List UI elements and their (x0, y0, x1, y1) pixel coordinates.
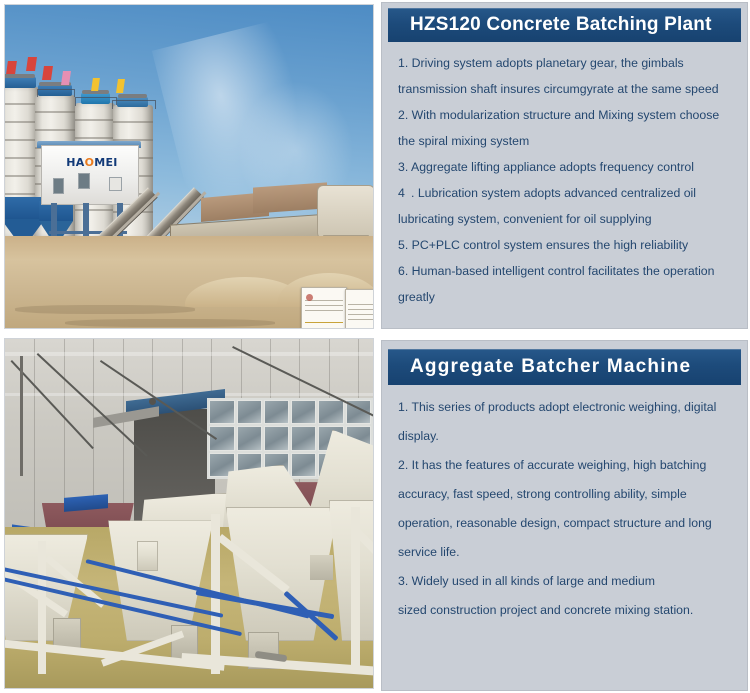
tower-window (78, 173, 90, 189)
feature-line: greatly (398, 284, 733, 310)
hzs120-feature-list: 1. Driving system adopts planetary gear,… (382, 42, 747, 316)
feature-line: the spiral mixing system (398, 128, 733, 154)
level-sensor-box (137, 541, 157, 571)
hzs120-spec-panel: HZS120 Concrete Batching Plant 1. Drivin… (381, 2, 748, 329)
aggregate-bin-top (253, 182, 327, 213)
certificate-document (301, 287, 347, 329)
silo-top-cap (4, 77, 36, 88)
feature-line: service life. (398, 538, 733, 567)
feature-line: 2. With modularization structure and Mix… (398, 102, 733, 128)
feature-line: accuracy, fast speed, strong controlling… (398, 480, 733, 509)
certificate-document (345, 289, 374, 329)
feature-line: 4 . Lubrication system adopts advanced c… (398, 180, 733, 206)
logo-text-pre: HA (66, 156, 84, 169)
haomei-logo: HAOMEI (61, 155, 123, 170)
feature-line: display. (398, 422, 733, 451)
silo-guard-rail (75, 97, 117, 106)
feature-line: 1. Driving system adopts planetary gear,… (398, 50, 733, 76)
feature-line: 3. Widely used in all kinds of large and… (398, 567, 733, 596)
tire-track (65, 319, 275, 327)
certificate-seal (306, 294, 313, 301)
silo-guard-rail (37, 89, 75, 97)
logo-text-accent: O (85, 156, 95, 169)
feature-line: 1. This series of products adopt electro… (398, 393, 733, 422)
feature-line: 2. It has the features of accurate weigh… (398, 451, 733, 480)
window-pane (209, 400, 234, 424)
window-pane (237, 426, 262, 450)
window-pane (264, 400, 289, 424)
aggregate-discharge-hopper (317, 185, 374, 239)
tower-window (109, 177, 122, 191)
feature-line: sized construction project and concrete … (398, 596, 733, 625)
silo-lid (118, 94, 147, 98)
silo-guard-rail (112, 100, 156, 109)
window-pane (237, 400, 262, 424)
ceiling-beam (20, 356, 23, 476)
discharge-gate (310, 555, 332, 579)
feature-line: transmission shaft insures circumgyrate … (398, 76, 733, 102)
control-tower-house (41, 145, 139, 205)
window-pane (291, 400, 316, 424)
product-spec-sheet: HAOMEI (0, 0, 750, 693)
logo-text-post: MEI (94, 156, 117, 169)
feature-line: 3. Aggregate lifting appliance adopts fr… (398, 154, 733, 180)
window-pane (318, 400, 343, 424)
silo-lid (4, 74, 35, 78)
feature-line: operation, reasonable design, compact st… (398, 509, 733, 538)
wall-lamp-icon (149, 398, 156, 405)
feature-line: 5. PC+PLC control system ensures the hig… (398, 232, 733, 258)
window-pane (291, 426, 316, 450)
aggregate-batcher-panel-title: Aggregate Batcher Machine (388, 349, 741, 385)
aggregate-batcher-photo (4, 338, 374, 689)
feature-line: lubricating system, convenient for oil s… (398, 206, 733, 232)
flag-red (6, 61, 17, 74)
aggregate-batcher-spec-panel: Aggregate Batcher Machine 1. This series… (381, 340, 748, 691)
concrete-batching-plant-photo: HAOMEI (4, 4, 374, 329)
tire-track (15, 305, 195, 314)
window-pane (291, 453, 316, 477)
window-pane (264, 426, 289, 450)
tower-window (53, 178, 64, 194)
feature-line: 6. Human-based intelligent control facil… (398, 258, 733, 284)
aggregate-batcher-feature-list: 1. This series of products adopt electro… (382, 385, 747, 631)
hzs120-panel-title: HZS120 Concrete Batching Plant (388, 8, 741, 42)
